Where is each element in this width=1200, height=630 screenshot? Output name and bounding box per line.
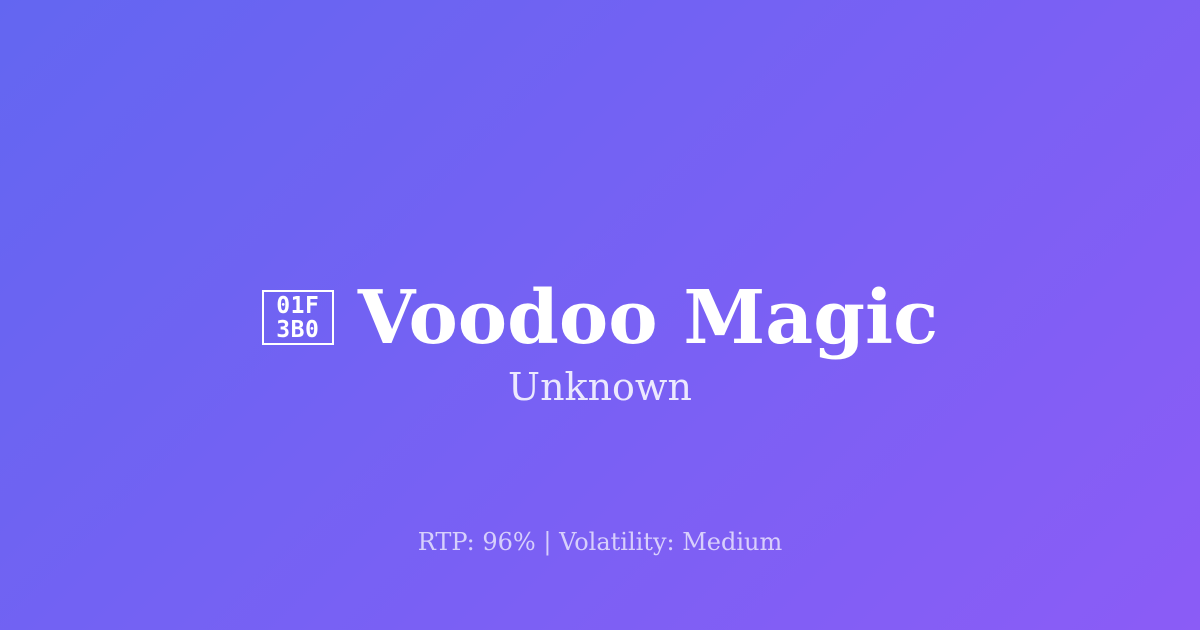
game-preview-card: 01F 3B0 Voodoo Magic Unknown RTP: 96% | … <box>0 0 1200 630</box>
game-provider: Unknown <box>0 365 1200 411</box>
slot-machine-icon: 01F 3B0 <box>262 290 334 345</box>
game-title: Voodoo Magic <box>358 281 938 355</box>
game-stats: RTP: 96% | Volatility: Medium <box>0 528 1200 557</box>
slot-machine-icon-codepoint-lower: 3B0 <box>276 318 319 342</box>
slot-machine-icon-codepoint-upper: 01F <box>276 294 319 318</box>
